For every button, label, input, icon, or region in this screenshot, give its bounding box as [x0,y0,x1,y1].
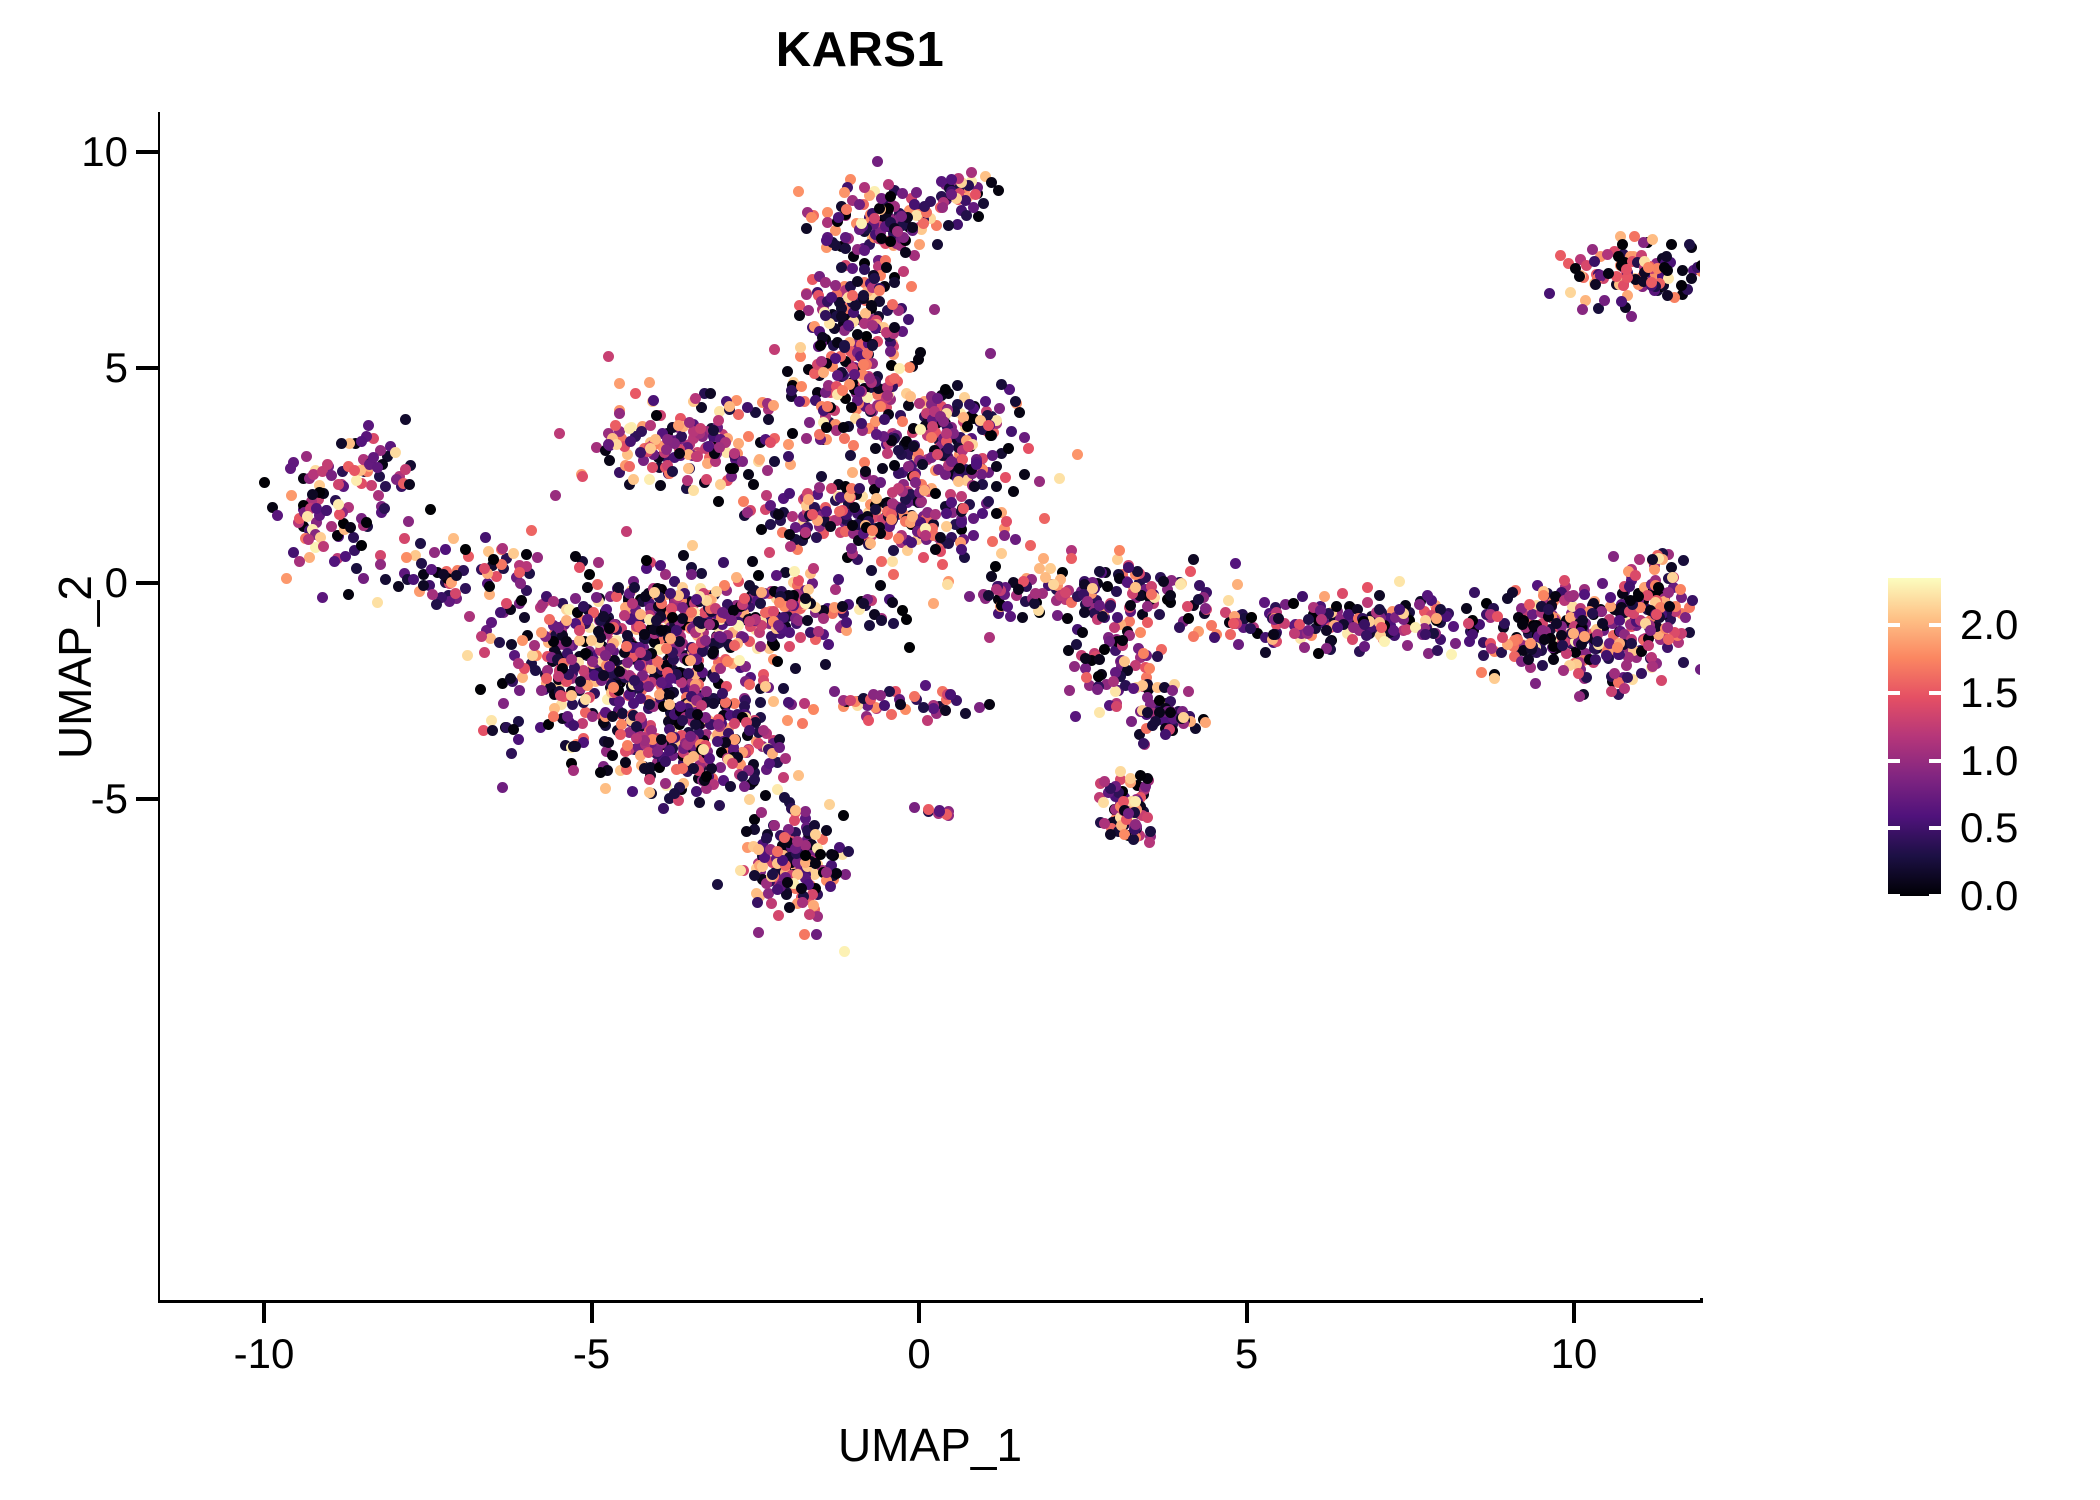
scatter-point [1138,738,1149,749]
scatter-point [1185,566,1196,577]
scatter-point [1608,551,1619,562]
scatter-point [815,340,826,351]
scatter-point [867,320,878,331]
scatter-point [932,449,943,460]
y-tick-label: 10 [0,128,128,176]
scatter-point [272,510,283,521]
scatter-point [1647,234,1658,245]
scatter-point [999,530,1010,541]
scatter-point [708,425,719,436]
scatter-point [1299,642,1310,653]
scatter-point [1629,231,1640,242]
scatter-point [877,463,888,474]
scatter-point [725,463,736,474]
colorbar-tick-mark [1888,826,1900,830]
colorbar-tick-mark [1888,894,1900,898]
scatter-point [729,718,740,729]
scatter-point [797,718,808,729]
scatter-point [1175,579,1186,590]
scatter-point [883,179,894,190]
scatter-point [614,378,625,389]
scatter-point [879,414,890,425]
scatter-point [889,277,900,288]
scatter-point [822,401,833,412]
scatter-point [898,266,909,277]
scatter-point [318,541,329,552]
scatter-point [986,571,997,582]
scatter-point [1590,279,1601,290]
scatter-point [665,633,676,644]
scatter-point [763,414,774,425]
scatter-point [907,511,918,522]
scatter-point [519,612,530,623]
chart-page: KARS1 -10-50510 -50510 UMAP_1 UMAP_2 0.0… [0,0,2100,1500]
scatter-point [326,521,337,532]
scatter-point [595,767,606,778]
scatter-point [946,497,957,508]
scatter-point [783,451,794,462]
scatter-point [390,447,401,458]
scatter-point [530,665,541,676]
scatter-point [893,483,904,494]
colorbar-tick-label: 0.5 [1960,807,2090,849]
scatter-point [363,420,374,431]
scatter-point [1362,582,1373,593]
scatter-point [779,832,790,843]
scatter-point [749,870,760,881]
scatter-point [1102,581,1113,592]
scatter-point [1259,597,1270,608]
scatter-point [804,417,815,428]
scatter-point [592,579,603,590]
scatter-point [643,681,654,692]
scatter-point [1362,597,1373,608]
scatter-point [808,704,819,715]
scatter-point [582,614,593,625]
colorbar-legend: 0.00.51.01.52.0 [1888,578,2088,896]
scatter-point [940,384,951,395]
scatter-point [1616,296,1627,307]
scatter-point [904,642,915,653]
scatter-point [821,867,832,878]
scatter-point [678,550,689,561]
scatter-point [677,763,688,774]
scatter-point [806,212,817,223]
scatter-point [526,525,537,536]
scatter-point [1579,589,1590,600]
scatter-point [854,386,865,397]
scatter-point [651,410,662,421]
scatter-point [863,715,874,726]
scatter-point [803,494,814,505]
colorbar-tick-mark [1929,691,1941,695]
y-tick-mark [136,581,158,585]
scatter-point [843,320,854,331]
scatter-point [1601,650,1612,661]
scatter-point [259,477,270,488]
scatter-point [871,493,882,504]
scatter-point [772,884,783,895]
scatter-point [991,461,1002,472]
scatter-point [487,725,498,736]
scatter-point [1649,564,1660,575]
scatter-point [661,643,672,654]
scatter-point [1636,668,1647,679]
scatter-point [403,516,414,527]
scatter-point [1006,426,1017,437]
scatter-point [875,580,886,591]
scatter-point [739,781,750,792]
scatter-point [603,351,614,362]
scatter-point [785,541,796,552]
scatter-point [1094,707,1105,718]
scatter-point [909,802,920,813]
colorbar-tick-mark [1929,759,1941,763]
scatter-point [625,436,636,447]
x-tick-label: -10 [184,1330,344,1378]
scatter-point [1070,711,1081,722]
scatter-point [1115,766,1126,777]
scatter-point [548,596,559,607]
scatter-point [1152,651,1163,662]
scatter-point [983,420,994,431]
scatter-point [985,430,996,441]
scatter-point [826,849,837,860]
colorbar-tick-mark [1929,623,1941,627]
scatter-point [704,619,715,630]
scatter-point [1225,629,1236,640]
scatter-point [568,720,579,731]
scatter-point [1402,640,1413,651]
scatter-point [823,639,834,650]
scatter-point [765,519,776,530]
scatter-point [1614,615,1625,626]
scatter-point [845,450,856,461]
scatter-point [713,496,724,507]
scatter-point [858,359,869,370]
scatter-point [744,679,755,690]
scatter-point [418,580,429,591]
scatter-point [918,552,929,563]
scatter-point [399,533,410,544]
scatter-point [1379,636,1390,647]
scatter-point [847,520,858,531]
colorbar-tick-label: 0.0 [1960,875,2090,917]
scatter-point [1492,611,1503,622]
scatter-point [555,690,566,701]
scatter-point [866,300,877,311]
scatter-point [932,239,943,250]
scatter-point [755,598,766,609]
scatter-point [799,929,810,940]
scatter-point [317,592,328,603]
scatter-point [691,594,702,605]
scatter-point [897,188,908,199]
scatter-point [727,758,738,769]
scatter-point [734,655,745,666]
scatter-point [568,765,579,776]
scatter-point [1525,638,1536,649]
scatter-point [372,597,383,608]
scatter-point [1603,268,1614,279]
scatter-point [850,300,861,311]
scatter-point [956,491,967,502]
scatter-point [700,635,711,646]
scatter-point [577,471,588,482]
colorbar-tick-label: 1.0 [1960,740,2090,782]
scatter-point [871,429,882,440]
scatter-point [915,424,926,435]
scatter-point [593,557,604,568]
scatter-point [1647,661,1658,672]
scatter-point [1108,676,1119,687]
scatter-point [1165,590,1176,601]
scatter-point [548,711,559,722]
scatter-point [622,657,633,668]
scatter-point [639,629,650,640]
scatter-point [682,475,693,486]
scatter-point [426,564,437,575]
colorbar-tick-mark [1929,894,1941,898]
scatter-point [866,565,877,576]
scatter-point [767,869,778,880]
scatter-plot-panel [160,112,1700,1300]
scatter-point [301,451,312,462]
scatter-point [778,683,789,694]
scatter-point [404,479,415,490]
scatter-point [908,441,919,452]
scatter-point [1144,663,1155,674]
scatter-point [604,455,615,466]
scatter-point [830,584,841,595]
scatter-point [991,481,1002,492]
scatter-point [818,367,829,378]
scatter-point [836,262,847,273]
scatter-point [621,526,632,537]
scatter-point [1154,609,1165,620]
scatter-point [760,681,771,692]
scatter-point [1361,630,1372,641]
scatter-point [450,588,461,599]
scatter-point [356,436,367,447]
scatter-point [712,736,723,747]
scatter-point [1684,239,1695,250]
scatter-point [1678,657,1689,668]
scatter-point [1461,603,1472,614]
scatter-point [687,540,698,551]
scatter-point [506,748,517,759]
scatter-point [875,690,886,701]
scatter-point [400,464,411,475]
scatter-point [575,676,586,687]
scatter-point [773,910,784,921]
y-tick-mark [136,150,158,154]
scatter-point [1579,631,1590,642]
scatter-point [486,617,497,628]
scatter-point [1577,304,1588,315]
scatter-point [701,771,712,782]
scatter-point [729,640,740,651]
scatter-point [768,696,779,707]
scatter-point [598,670,609,681]
scatter-point [768,400,779,411]
scatter-point [718,557,729,568]
scatter-point [903,314,914,325]
scatter-point [1597,578,1608,589]
scatter-point [1123,808,1134,819]
scatter-point [943,443,954,454]
scatter-point [631,721,642,732]
scatter-point [882,448,893,459]
scatter-point [724,401,735,412]
scatter-point [833,212,844,223]
scatter-point [401,552,412,563]
x-tick-mark [590,1303,594,1323]
scatter-point [655,480,666,491]
scatter-point [1178,712,1189,723]
scatter-point [900,247,911,258]
scatter-point [801,433,812,444]
scatter-point [941,521,952,532]
scatter-point [1098,797,1109,808]
scatter-point [876,615,887,626]
scatter-point [1431,613,1442,624]
scatter-point [624,461,635,472]
scatter-point [286,490,297,501]
scatter-point [615,729,626,740]
scatter-point [448,533,459,544]
scatter-point [984,632,995,643]
scatter-point [909,250,920,261]
scatter-point [1174,622,1185,633]
scatter-point [814,482,825,493]
scatter-point [864,620,875,631]
scatter-point [462,650,473,661]
y-tick-mark [136,366,158,370]
scatter-point [1064,685,1075,696]
scatter-point [1537,660,1548,671]
scatter-point [553,622,564,633]
scatter-point [958,503,969,514]
scatter-point [920,680,931,691]
scatter-point [644,774,655,785]
scatter-point [1621,264,1632,275]
scatter-point [826,292,837,303]
scatter-point [614,408,625,419]
scatter-point [393,581,404,592]
scatter-point [356,540,367,551]
scatter-point [1010,534,1021,545]
scatter-point [584,569,595,580]
scatter-point [872,156,883,167]
scatter-point [930,509,941,520]
scatter-point [834,506,845,517]
scatter-point [1087,583,1098,594]
scatter-point [985,348,996,359]
scatter-point [580,648,591,659]
scatter-point [1486,643,1497,654]
scatter-point [987,536,998,547]
scatter-point [1099,776,1110,787]
scatter-point [416,558,427,569]
scatter-point [1394,576,1405,587]
scatter-point [622,630,633,641]
scatter-point [343,589,354,600]
scatter-point [752,897,763,908]
scatter-point [1559,575,1570,586]
scatter-point [796,883,807,894]
scatter-point [888,618,899,629]
scatter-point [786,385,797,396]
scatter-point [780,753,791,764]
scatter-point [772,656,783,667]
scatter-point [607,711,618,722]
scatter-point [764,547,775,558]
scatter-point [766,898,777,909]
scatter-point [793,186,804,197]
scatter-point [629,675,640,686]
scatter-point [748,479,759,490]
scatter-point [1332,622,1343,633]
scatter-point [1245,623,1256,634]
scatter-point [1119,656,1130,667]
scatter-point [1114,545,1125,556]
scatter-point [1450,638,1461,649]
scatter-point [628,698,639,709]
scatter-point [969,481,980,492]
scatter-point [771,570,782,581]
scatter-point [321,505,332,516]
scatter-point [1142,812,1153,823]
colorbar-tick-mark [1888,759,1900,763]
scatter-point [838,422,849,433]
colorbar-tick-mark [1888,623,1900,627]
scatter-point [859,264,870,275]
scatter-point [808,563,819,574]
scatter-point [373,490,384,501]
scatter-point [1142,617,1153,628]
scatter-point [802,615,813,626]
scatter-point [333,479,344,490]
scatter-point [1069,661,1080,672]
scatter-point [782,877,793,888]
scatter-point [930,488,941,499]
scatter-point [425,504,436,515]
scatter-point [782,366,793,377]
scatter-point [778,772,789,783]
scatter-point [846,402,857,413]
scatter-point [888,569,899,580]
scatter-point [783,697,794,708]
scatter-point [1019,432,1030,443]
scatter-point [960,708,971,719]
scatter-point [1678,555,1689,566]
scatter-point [970,189,981,200]
scatter-point [686,569,697,580]
scatter-point [1130,819,1141,830]
scatter-point [1617,239,1628,250]
scatter-point [1092,684,1103,695]
scatter-point [619,610,630,621]
scatter-point [756,807,767,818]
scatter-point [708,646,719,657]
scatter-point [961,210,972,221]
scatter-point [652,746,663,757]
scatter-point [1530,678,1541,689]
scatter-point [1432,645,1443,656]
scatter-point [1099,644,1110,655]
scatter-point [837,601,848,612]
